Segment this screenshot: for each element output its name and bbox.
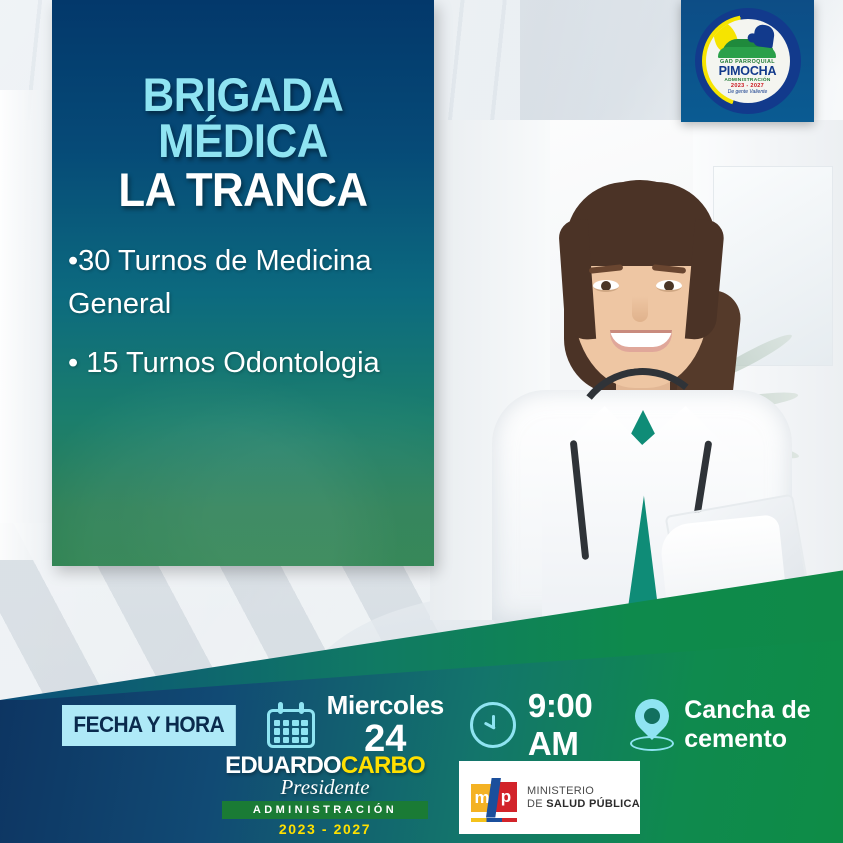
clock-icon [470, 702, 516, 748]
doctor-figure [492, 170, 792, 620]
logo-emblem-art [716, 25, 780, 59]
logo-tagline: De gente Valiente [728, 89, 768, 95]
fecha-y-hora-chip: FECHA Y HORA [62, 705, 236, 746]
page-title-line2: LA TRANCA [78, 166, 407, 214]
poster-canvas: BRIGADA MÉDICA LA TRANCA •30 Turnos de M… [0, 0, 843, 843]
page-title-line1: BRIGADA MÉDICA [78, 72, 407, 164]
ecuador-flag-stripe [471, 818, 517, 822]
map-pin-icon [630, 699, 674, 751]
msp-line1: MINISTERIO [527, 785, 640, 797]
event-day-name: Miercoles [327, 692, 444, 718]
msp-mark-icon: m p [471, 778, 517, 818]
event-details-row: FECHA Y HORA Miercoles 24 9:00 AM Cancha… [0, 694, 843, 756]
eduardo-carbo-logo: EDUARDOCARBO Presidente ADMINISTRACIÓN 2… [222, 754, 428, 837]
msp-text: MINISTERIO DE SALUD PÚBLICA [527, 785, 640, 810]
carbo-admin-label: ADMINISTRACIÓN [222, 801, 428, 819]
ministerio-salud-publica-logo: m p MINISTERIO DE SALUD PÚBLICA [459, 761, 640, 834]
horse-head-icon [752, 24, 775, 49]
panel-ghost-equipment [52, 336, 434, 566]
event-date: Miercoles 24 [327, 692, 444, 758]
main-info-panel: BRIGADA MÉDICA LA TRANCA •30 Turnos de M… [52, 0, 434, 566]
logo-line2: PIMOCHA [719, 65, 777, 78]
msp-line2-prefix: DE [527, 798, 546, 810]
carbo-admin-years: 2023 - 2027 [222, 821, 428, 837]
event-location: Cancha de cemento [684, 696, 843, 754]
calendar-icon [267, 702, 315, 748]
event-time: 9:00 AM [528, 687, 610, 763]
msp-line2-bold: SALUD PÚBLICA [546, 798, 640, 810]
doctor-photo [430, 120, 843, 620]
gad-pimocha-logo: GAD PARROQUIAL PIMOCHA ADMINISTRACIÓN 20… [681, 0, 814, 122]
list-item: •30 Turnos de Medicina General [68, 240, 418, 326]
carbo-role: Presidente [222, 777, 428, 798]
